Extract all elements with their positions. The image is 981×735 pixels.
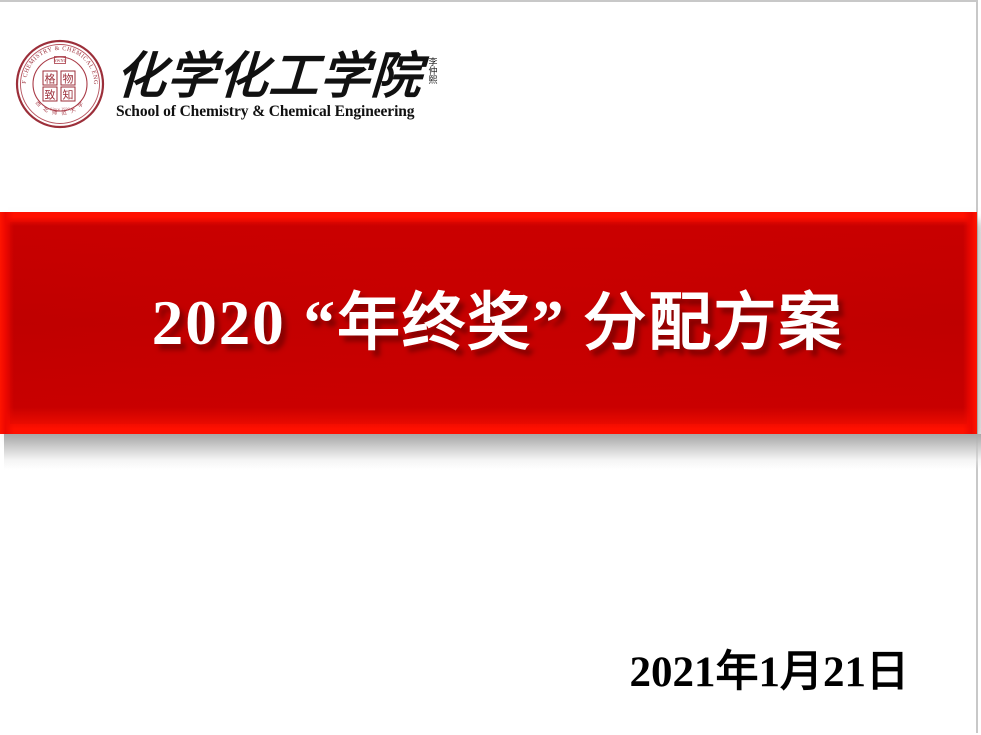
svg-text:物: 物 [63,72,74,86]
university-seal-icon: SCHOOL OF CHEMISTRY & CHEMICAL ENGINEERI… [14,38,106,130]
title-banner-dropshadow [4,434,981,470]
school-logo-lockup: SCHOOL OF CHEMISTRY & CHEMICAL ENGINEERI… [14,38,436,130]
school-wordmark-row: 化学化工学院 李仲熙 [116,51,436,102]
calligraphy-signature: 李仲熙 [427,57,436,84]
school-wordmark: 化学化工学院 李仲熙 School of Chemistry & Chemica… [116,47,436,121]
slide-date: 2021年1月21日 [630,637,910,699]
svg-text:NWNU: NWNU [53,58,66,63]
svg-text:Since 1939: Since 1939 [50,107,70,112]
title-banner: 2020 “年终奖” 分配方案 [0,212,977,434]
title-banner-background: 2020 “年终奖” 分配方案 [0,212,977,434]
svg-text:知: 知 [63,88,74,102]
slide-title: 2020 “年终奖” 分配方案 [0,290,977,356]
school-name-en: School of Chemistry & Chemical Engineeri… [116,103,414,121]
svg-text:致: 致 [45,88,56,102]
presentation-slide: SCHOOL OF CHEMISTRY & CHEMICAL ENGINEERI… [0,0,981,735]
school-name-cn: 化学化工学院 [115,51,424,102]
svg-text:格: 格 [45,72,56,86]
slide-top-border [0,0,978,2]
